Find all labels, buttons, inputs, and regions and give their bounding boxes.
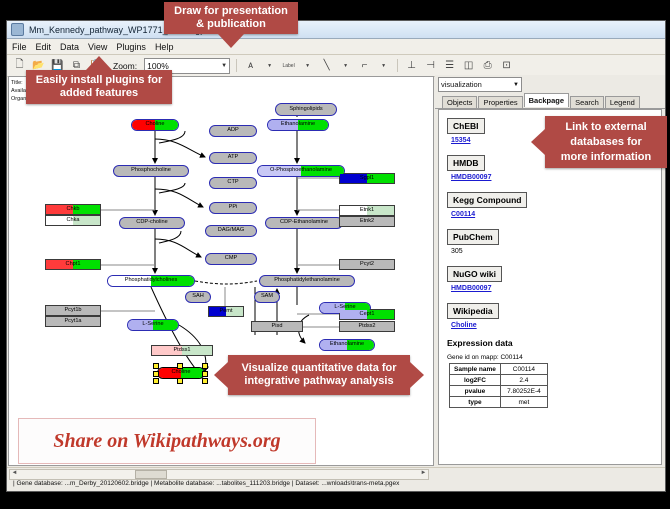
anchor-tool-icon[interactable]: ⊥ [404, 58, 419, 73]
db-header: Wikipedia [447, 303, 499, 319]
gene-node[interactable]: Chpt1 [45, 259, 101, 270]
db-header: NuGO wiki [447, 266, 502, 282]
callout-plugins-arrow-icon [86, 56, 112, 70]
row-key: Sample name [450, 364, 501, 375]
node-label: Pisd [272, 324, 283, 330]
gene-node[interactable]: Pcyt1a [45, 316, 101, 327]
callout-draw: Draw for presentation & publication [164, 2, 298, 34]
node-label: Etnk2 [360, 219, 374, 225]
metabolite-node[interactable]: Choline [131, 119, 179, 131]
gene-node[interactable]: Pcyt1b [45, 305, 101, 316]
db-entry-nugo: NuGO wiki HMDB00097 [447, 264, 661, 292]
side-tab-bar: Objects Properties Backpage Search Legen… [435, 94, 665, 109]
table-row: type met [450, 397, 548, 408]
node-label: L-Serine [142, 322, 163, 328]
resize-handle-sw[interactable] [153, 378, 159, 384]
node-label: L-Serine [334, 305, 355, 311]
node-label: Phosphatidylcholines [125, 278, 178, 284]
menu-item-help[interactable]: Help [155, 42, 174, 52]
node-label: Chpt1 [66, 262, 81, 268]
callout-share: Share on Wikipathways.org [18, 418, 316, 464]
row-value: C00114 [500, 364, 547, 375]
node-label: Chka [66, 218, 79, 224]
node-label: DAG/MAG [218, 228, 244, 234]
callout-visualize-arrow-icon [214, 362, 228, 388]
canvas-horizontal-scrollbar[interactable]: ◄ ► [9, 469, 429, 480]
chevron-down-icon: ▼ [221, 63, 227, 69]
db-link[interactable]: HMDB00097 [451, 174, 661, 181]
metabolite-node[interactable]: SAM [254, 291, 280, 303]
menu-item-data[interactable]: Data [60, 42, 79, 52]
gene-node[interactable]: Pcyt2 [339, 259, 395, 270]
db-entry-kegg: Kegg Compound C00114 [447, 190, 661, 218]
menu-item-view[interactable]: View [88, 42, 107, 52]
row-key: pvalue [450, 386, 501, 397]
chevron-down-icon: ▼ [513, 82, 519, 88]
callout-plugins: Easily install plugins for added feature… [26, 70, 172, 104]
node-label: Choline [146, 122, 165, 128]
stack-icon[interactable]: ◫ [461, 58, 476, 73]
menu-bar: File Edit Data View Plugins Help [7, 39, 665, 55]
gene-node[interactable]: Ptdss1 [151, 345, 213, 356]
window-title-bar: Mm_Kennedy_pathway_WP1771_45176.gpml [7, 21, 665, 39]
node-label: Ptdss1 [173, 348, 190, 354]
metabolite-node[interactable]: Ethanolamine [267, 119, 329, 131]
metabolite-node[interactable]: O-Phosphoethanolamine [257, 165, 345, 177]
db-header: PubChem [447, 229, 499, 245]
pathway-canvas[interactable]: Title: Availa Organi [8, 76, 434, 466]
tab-backpage[interactable]: Backpage [524, 93, 569, 107]
row-value: met [500, 397, 547, 408]
resize-handle-e[interactable] [202, 371, 208, 377]
tab-properties[interactable]: Properties [478, 96, 522, 108]
db-link[interactable]: Choline [451, 322, 661, 329]
gene-node[interactable]: Pisd [251, 321, 303, 332]
align-left-icon[interactable]: ⊣ [423, 58, 438, 73]
visualization-value: visualization [441, 80, 482, 89]
share-text: Share on Wikipathways.org [53, 430, 280, 453]
row-key: log2FC [450, 375, 501, 386]
resize-handle-w[interactable] [153, 371, 159, 377]
properties-icon[interactable]: ⊡ [499, 58, 514, 73]
node-label: ADP [227, 128, 239, 134]
node-label: Pcyt1a [64, 319, 81, 325]
zoom-value: 100% [147, 61, 169, 71]
connector-tool-icon[interactable]: ⌐ [357, 58, 372, 73]
db-link[interactable]: C00114 [451, 211, 661, 218]
resize-handle-nw[interactable] [153, 363, 159, 369]
node-label: ATP [228, 155, 238, 161]
callout-visualize: Visualize quantitative data for integrat… [228, 355, 410, 395]
node-label: Phosphatidylethanolamine [274, 278, 340, 284]
gene-node[interactable]: Etnk2 [339, 216, 395, 227]
gene-node[interactable]: Chka [45, 215, 101, 226]
chevron-down-icon[interactable]: ▼ [300, 58, 315, 73]
print-icon[interactable]: ⎙ [480, 58, 495, 73]
metabolite-node[interactable]: DAG/MAG [205, 225, 257, 237]
node-label: SAH [192, 294, 204, 300]
menu-item-file[interactable]: File [12, 42, 27, 52]
menu-item-edit[interactable]: Edit [36, 42, 52, 52]
text-tool-icon[interactable]: ᴀ [243, 58, 258, 73]
callout-link: Link to external databases for more info… [545, 116, 667, 168]
node-label: Cept1 [360, 312, 375, 318]
node-label: Pemt [219, 309, 232, 315]
node-label: Sphingolipids [289, 107, 322, 113]
align-distribute-icon[interactable]: ☰ [442, 58, 457, 73]
node-label: SAM [261, 294, 273, 300]
db-header: ChEBI [447, 118, 485, 134]
db-link[interactable]: HMDB00097 [451, 285, 661, 292]
node-label: Etnk1 [360, 208, 374, 214]
status-text: | Gene database: ...m_Derby_20120602.bri… [13, 480, 399, 487]
db-header: HMDB [447, 155, 485, 171]
gene-node[interactable]: Pemt [208, 306, 244, 317]
metabolite-node[interactable]: Ethanolamine [319, 339, 375, 351]
node-label: Ptdss2 [358, 324, 375, 330]
metabolite-node[interactable]: ADP [209, 125, 257, 137]
line-tool-icon[interactable]: ╲ [319, 58, 334, 73]
callout-visualize-arrow-right-icon [410, 362, 424, 388]
tab-search[interactable]: Search [570, 96, 604, 108]
callout-draw-arrow-icon [218, 34, 244, 48]
metabolite-node[interactable]: CDP-Ethanolamine [265, 217, 343, 229]
resize-handle-se[interactable] [202, 378, 208, 384]
metabolite-node[interactable]: CMP [205, 253, 257, 265]
node-label: Ethanolamine [330, 342, 364, 348]
gene-node[interactable]: Etnk1 [339, 205, 395, 216]
metabolite-node[interactable]: Phosphatidylethanolamine [259, 275, 355, 287]
gene-node[interactable]: Sgpl1 [339, 173, 395, 184]
node-label: Pcyt1b [64, 308, 81, 314]
gene-id-line: Gene id on mapp: C00114 [447, 354, 661, 361]
scroll-right-icon[interactable]: ► [419, 470, 428, 477]
node-label: Pcyt2 [360, 262, 374, 268]
node-label: O-Phosphoethanolamine [270, 168, 332, 174]
metabolite-node[interactable]: ATP [209, 152, 257, 164]
chevron-down-icon[interactable]: ▼ [338, 58, 353, 73]
row-value: 7.80252E-4 [500, 386, 547, 397]
tab-objects[interactable]: Objects [442, 96, 477, 108]
metabolite-node[interactable]: Phosphatidylcholines [107, 275, 195, 287]
node-label: Ethanolamine [281, 122, 315, 128]
callout-link-arrow-icon [531, 129, 545, 155]
row-value: 2.4 [500, 375, 547, 386]
node-label: Sgpl1 [360, 176, 374, 182]
metabolite-node[interactable]: CDP-choline [119, 217, 185, 229]
metabolite-node[interactable]: PPi [209, 202, 257, 214]
scroll-left-icon[interactable]: ◄ [10, 470, 19, 477]
new-file-icon[interactable]: 🗋 [12, 58, 27, 73]
toolbar-divider [397, 59, 398, 72]
expression-table: Sample name C00114 log2FC 2.4 pvalue 7.8… [449, 363, 548, 408]
expression-data-title: Expression data [447, 338, 661, 348]
screenshot-root: Mm_Kennedy_pathway_WP1771_45176.gpml Fil… [0, 0, 670, 509]
node-label: PPi [229, 205, 238, 211]
chevron-down-icon[interactable]: ▼ [262, 58, 277, 73]
table-row: pvalue 7.80252E-4 [450, 386, 548, 397]
node-label: Chkb [66, 207, 79, 213]
db-entry-pubchem: PubChem 305 [447, 227, 661, 255]
label-tool-icon[interactable]: Label [281, 58, 296, 73]
table-row: Sample name C00114 [450, 364, 548, 375]
resize-handle-s[interactable] [177, 378, 183, 384]
gene-node[interactable]: Ptdss2 [339, 321, 395, 332]
visualization-combobox[interactable]: visualization ▼ [438, 77, 522, 92]
metabolite-node[interactable]: SAH [185, 291, 211, 303]
gene-node[interactable]: Chkb [45, 204, 101, 215]
node-label: Phosphocholine [131, 168, 171, 174]
metabolite-node[interactable]: CTP [209, 177, 257, 189]
menu-item-plugins[interactable]: Plugins [116, 42, 146, 52]
node-label: CMP [225, 256, 237, 262]
toolbar-divider [236, 59, 237, 72]
row-key: type [450, 397, 501, 408]
metabolite-node[interactable]: Sphingolipids [275, 103, 337, 116]
metabolite-node[interactable]: Phosphocholine [113, 165, 189, 177]
scrollbar-thumb[interactable] [135, 470, 167, 479]
zoom-label: Zoom: [113, 61, 137, 71]
node-label: CDP-choline [136, 220, 167, 226]
app-icon [11, 23, 24, 36]
chevron-down-icon[interactable]: ▼ [376, 58, 391, 73]
metabolite-node[interactable]: L-Serine [127, 319, 179, 331]
status-bar: ◄ ► | Gene database: ...m_Derby_20120602… [7, 467, 665, 491]
db-value: 305 [451, 248, 661, 255]
resize-handle-ne[interactable] [202, 363, 208, 369]
node-label: CDP-Ethanolamine [280, 220, 328, 226]
node-label: CTP [227, 180, 238, 186]
db-header: Kegg Compound [447, 192, 527, 208]
db-entry-wikipedia: Wikipedia Choline [447, 301, 661, 329]
node-label: Choline [172, 370, 191, 376]
resize-handle-n[interactable] [177, 363, 183, 369]
tab-legend[interactable]: Legend [605, 96, 640, 108]
table-row: log2FC 2.4 [450, 375, 548, 386]
